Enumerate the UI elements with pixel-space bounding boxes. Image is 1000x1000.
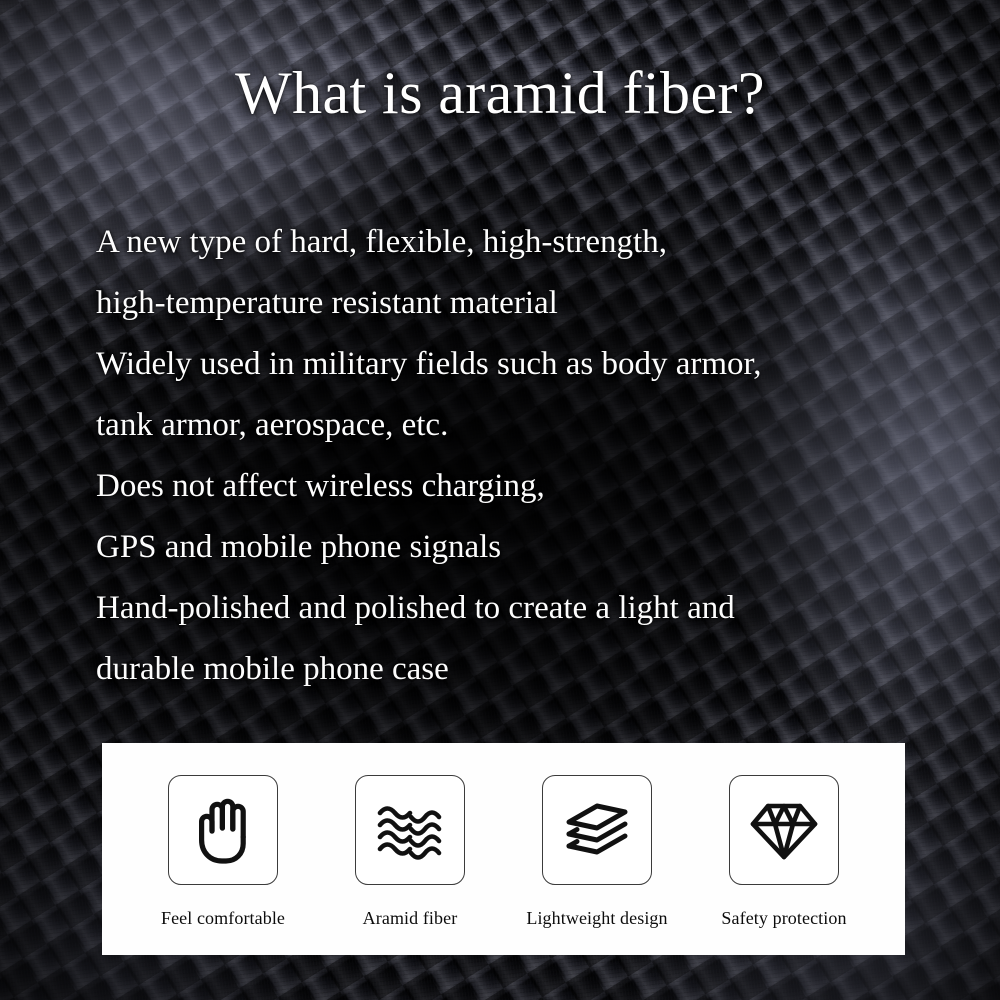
page-title: What is aramid fiber? — [0, 62, 1000, 126]
woven-waves-icon — [375, 799, 445, 861]
description-line: durable mobile phone case — [96, 639, 976, 700]
description-line: Does not affect wireless charging, — [96, 456, 976, 517]
description-line: Hand-polished and polished to create a l… — [96, 578, 976, 639]
icon-box — [729, 775, 839, 885]
hand-icon — [192, 795, 254, 865]
icon-box — [168, 775, 278, 885]
description-line: high-temperature resistant material — [96, 273, 976, 334]
diamond-icon — [748, 797, 820, 863]
description-line: GPS and mobile phone signals — [96, 517, 976, 578]
icon-box — [542, 775, 652, 885]
feature-panel: Feel comfortable — [102, 743, 905, 955]
feature-label: Lightweight design — [526, 908, 667, 929]
content-overlay: What is aramid fiber? A new type of hard… — [0, 0, 1000, 1000]
feature-label: Safety protection — [721, 908, 846, 929]
feature-item-safety-protection[interactable]: Safety protection — [699, 775, 869, 929]
feature-label: Aramid fiber — [363, 908, 458, 929]
feature-item-feel-comfortable[interactable]: Feel comfortable — [138, 775, 308, 929]
description-line: tank armor, aerospace, etc. — [96, 395, 976, 456]
description-line: A new type of hard, flexible, high-stren… — [96, 212, 976, 273]
description-block: A new type of hard, flexible, high-stren… — [96, 212, 976, 700]
feature-item-aramid-fiber[interactable]: Aramid fiber — [325, 775, 495, 929]
layers-icon — [561, 798, 633, 862]
description-line: Widely used in military fields such as b… — [96, 334, 976, 395]
feature-item-lightweight-design[interactable]: Lightweight design — [512, 775, 682, 929]
feature-label: Feel comfortable — [161, 908, 285, 929]
icon-box — [355, 775, 465, 885]
